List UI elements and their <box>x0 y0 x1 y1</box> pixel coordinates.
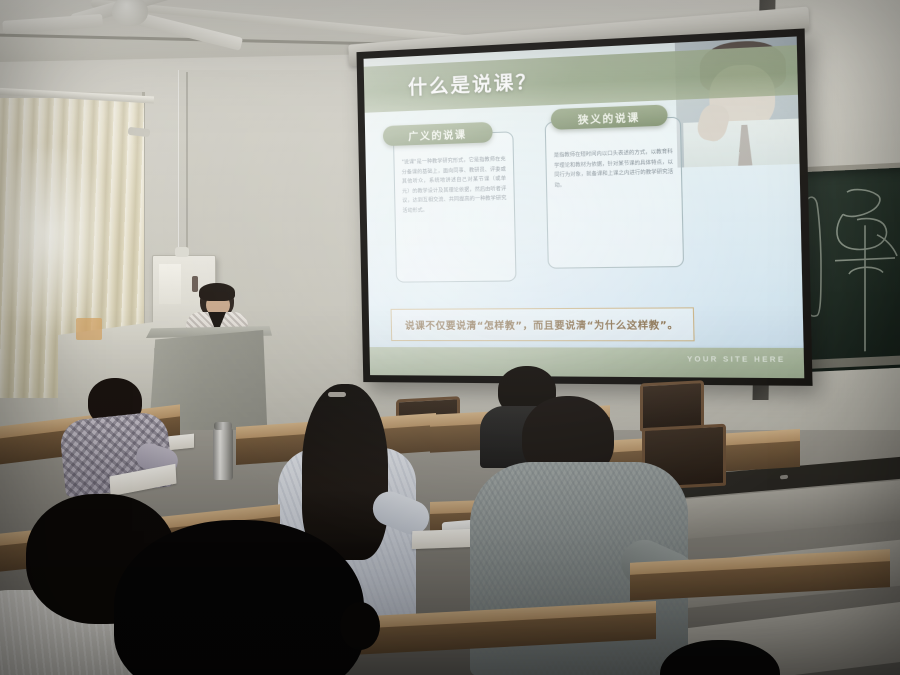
slide-body: "说课"是一种教学研究形式，它是指教师在充分备课的基础上，面向同事、教研员、评委… <box>365 95 804 346</box>
thermos-lid <box>214 422 232 430</box>
ceiling-fan-icon <box>60 0 240 52</box>
slide-footer-text: YOUR SITE HERE <box>687 356 786 364</box>
hair-clip <box>328 392 346 397</box>
definition-pill-narrow: 狭义的说课 <box>551 104 668 129</box>
cabinet-panel <box>159 264 181 304</box>
fan-hub <box>112 0 148 26</box>
slide-footer-band: YOUR SITE HERE <box>370 347 805 378</box>
cabinet-top-fixture <box>175 247 189 257</box>
slide-title: 什么是说课？ <box>408 66 538 100</box>
projected-slide: 什么是说课？ "说课"是一种教学研究形式，它是指教师在充分备课的基础上，面向同事… <box>364 36 805 378</box>
window-daylight-glow <box>4 150 114 340</box>
speaker-box <box>76 318 102 340</box>
definition-text-broad: "说课"是一种教学研究形式，它是指教师在充分备课的基础上，面向同事、教研员、评委… <box>401 155 506 216</box>
foreground-viewer-center <box>94 520 424 675</box>
person-head <box>660 640 780 675</box>
definition-box-broad: "说课"是一种教学研究形式，它是指教师在充分备课的基础上，面向同事、教研员、评委… <box>393 131 517 282</box>
person-head <box>114 520 364 675</box>
slide-key-message-text: 说课不仅要说清“怎样教”，而且要说清“为什么这样教”。 <box>405 317 679 332</box>
presenter-hair <box>199 283 235 301</box>
baseboard-hook <box>780 475 788 480</box>
definition-pill-broad: 广义的说课 <box>383 122 493 146</box>
definition-text-narrow: 是指教师在短时间内以口头表述的方式，以教育科学理论和教材为依据，针对某节课的具体… <box>554 148 674 191</box>
projection-screen: 什么是说课？ "说课"是一种教学研究形式，它是指教师在充分备课的基础上，面向同事… <box>356 28 812 396</box>
definition-box-narrow: 是指教师在短时间内以口头表述的方式，以教育科学理论和教材为依据，针对某节课的具体… <box>545 117 684 269</box>
slide-content: 什么是说课？ "说课"是一种教学研究形式，它是指教师在充分备课的基础上，面向同事… <box>364 36 805 378</box>
person-ear <box>340 602 380 650</box>
screen-frame: 什么是说课？ "说课"是一种教学研究形式，它是指教师在充分备课的基础上，面向同事… <box>356 28 812 385</box>
thermos-flask <box>213 428 233 480</box>
slide-key-message-banner: 说课不仅要说清“怎样教”，而且要说清“为什么这样教”。 <box>391 307 695 341</box>
classroom-photo: 什么是说课？ "说课"是一种教学研究形式，它是指教师在充分备课的基础上，面向同事… <box>0 0 900 675</box>
foreground-viewer-right <box>660 640 860 675</box>
